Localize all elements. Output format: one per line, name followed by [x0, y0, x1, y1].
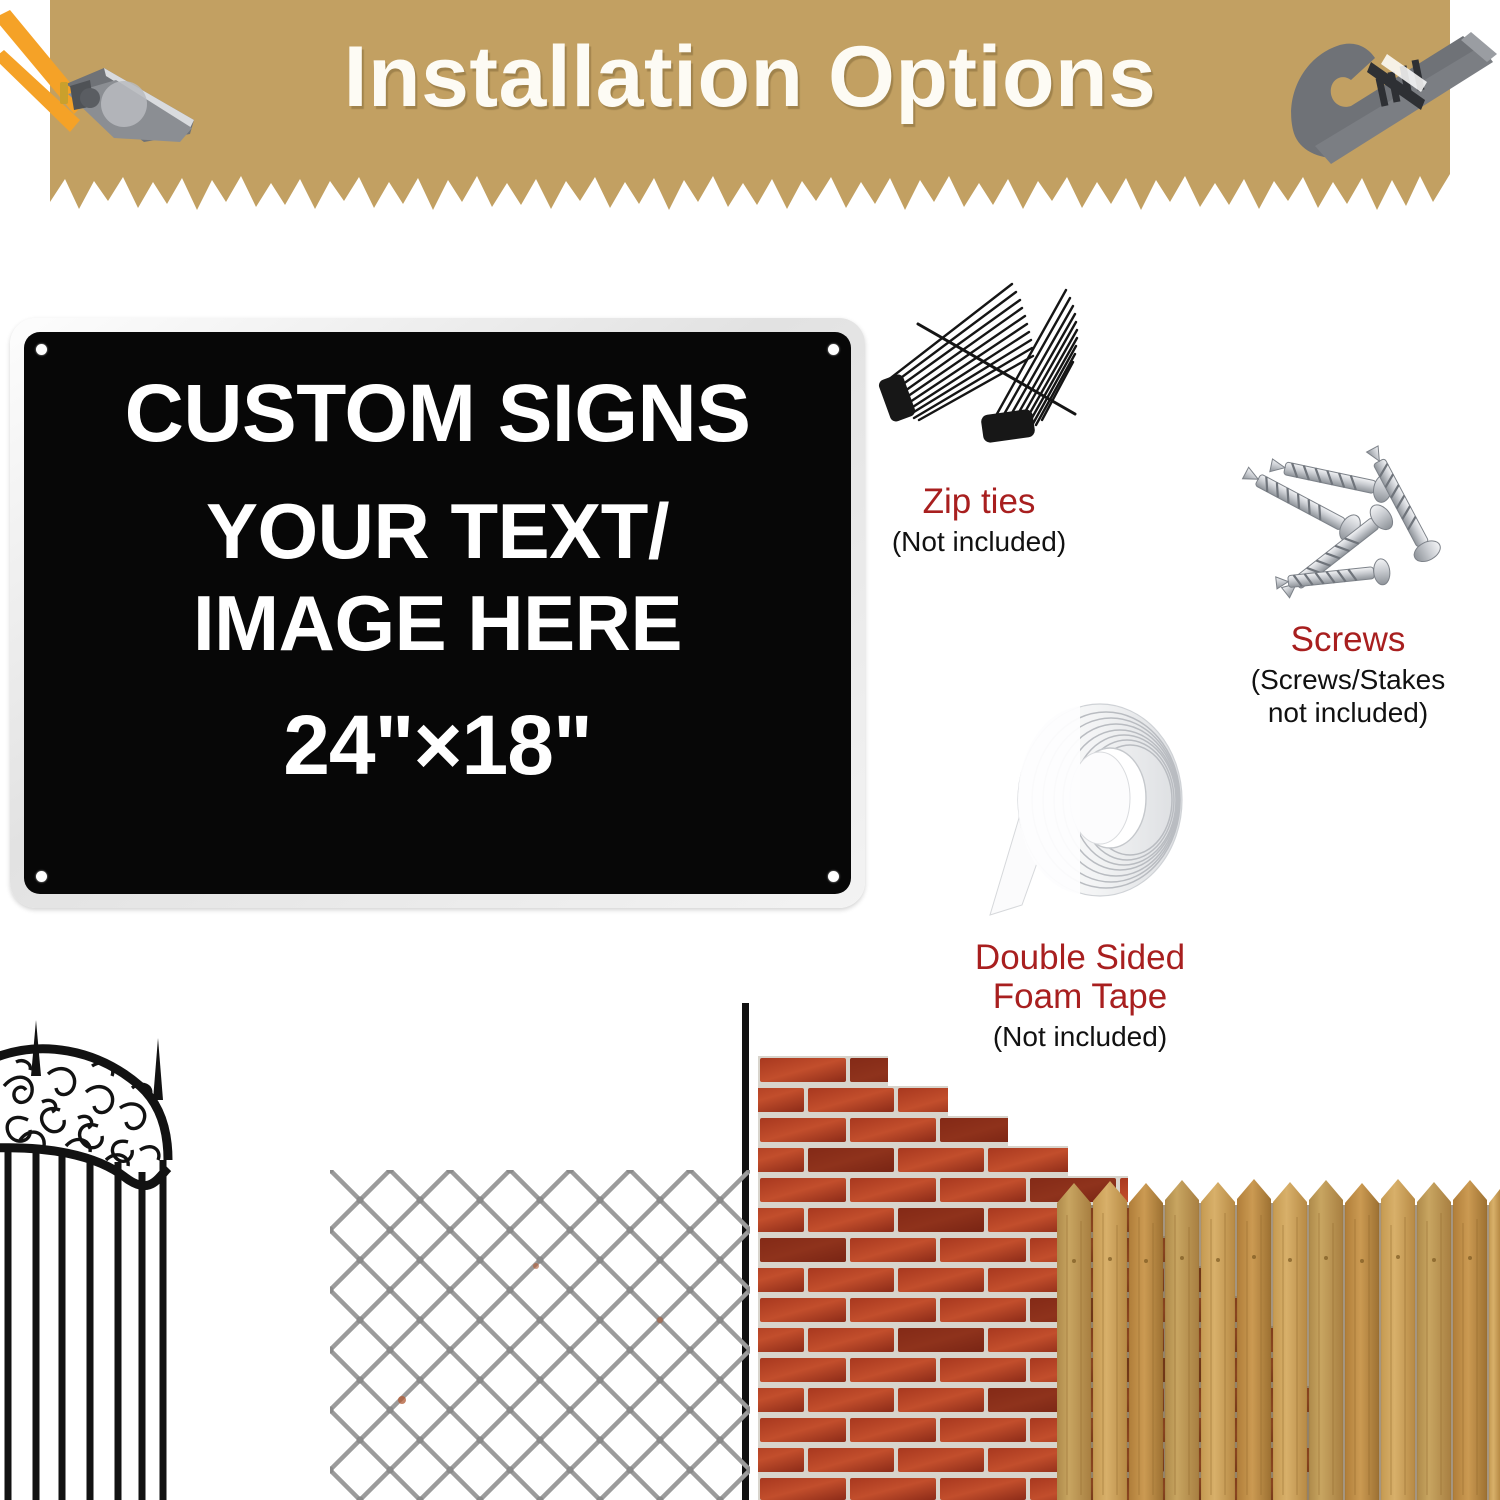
mounting-hole-icon	[828, 344, 839, 355]
foam-tape-title: Double Sided Foam Tape	[930, 938, 1230, 1016]
custom-sign-preview: CUSTOM SIGNS YOUR TEXT/ IMAGE HERE 24"×1…	[10, 318, 865, 908]
zip-ties-icon	[870, 262, 1090, 477]
mounting-hole-icon	[36, 871, 47, 882]
sign-line-3: IMAGE HERE	[10, 578, 865, 668]
zip-ties-label-group: Zip ties (Not included)	[845, 482, 1113, 558]
wood-picket-fence-icon	[1055, 1175, 1500, 1500]
screws-title: Screws	[1198, 620, 1498, 659]
sign-line-1: CUSTOM SIGNS	[10, 372, 865, 456]
mounting-hole-icon	[36, 344, 47, 355]
screws-icon	[1222, 438, 1462, 613]
sign-text-block: CUSTOM SIGNS YOUR TEXT/ IMAGE HERE 24"×1…	[10, 372, 865, 787]
header-banner: Installation Options	[0, 0, 1500, 220]
screws-label-group: Screws (Screws/Stakes not included)	[1198, 620, 1498, 729]
screws-note: (Screws/Stakes not included)	[1198, 663, 1498, 729]
zip-ties-note: (Not included)	[845, 525, 1113, 558]
chain-link-fence-icon	[330, 1170, 750, 1500]
mounting-hole-icon	[828, 871, 839, 882]
page-title: Installation Options	[0, 34, 1500, 120]
banner-sawtooth-edge	[50, 168, 1450, 220]
tape-roll-icon	[960, 690, 1205, 925]
sign-size-label: 24"×18"	[10, 703, 865, 787]
wrought-iron-gate-icon	[0, 1000, 360, 1500]
sign-line-2: YOUR TEXT/	[10, 486, 865, 576]
zip-ties-title: Zip ties	[845, 482, 1113, 521]
